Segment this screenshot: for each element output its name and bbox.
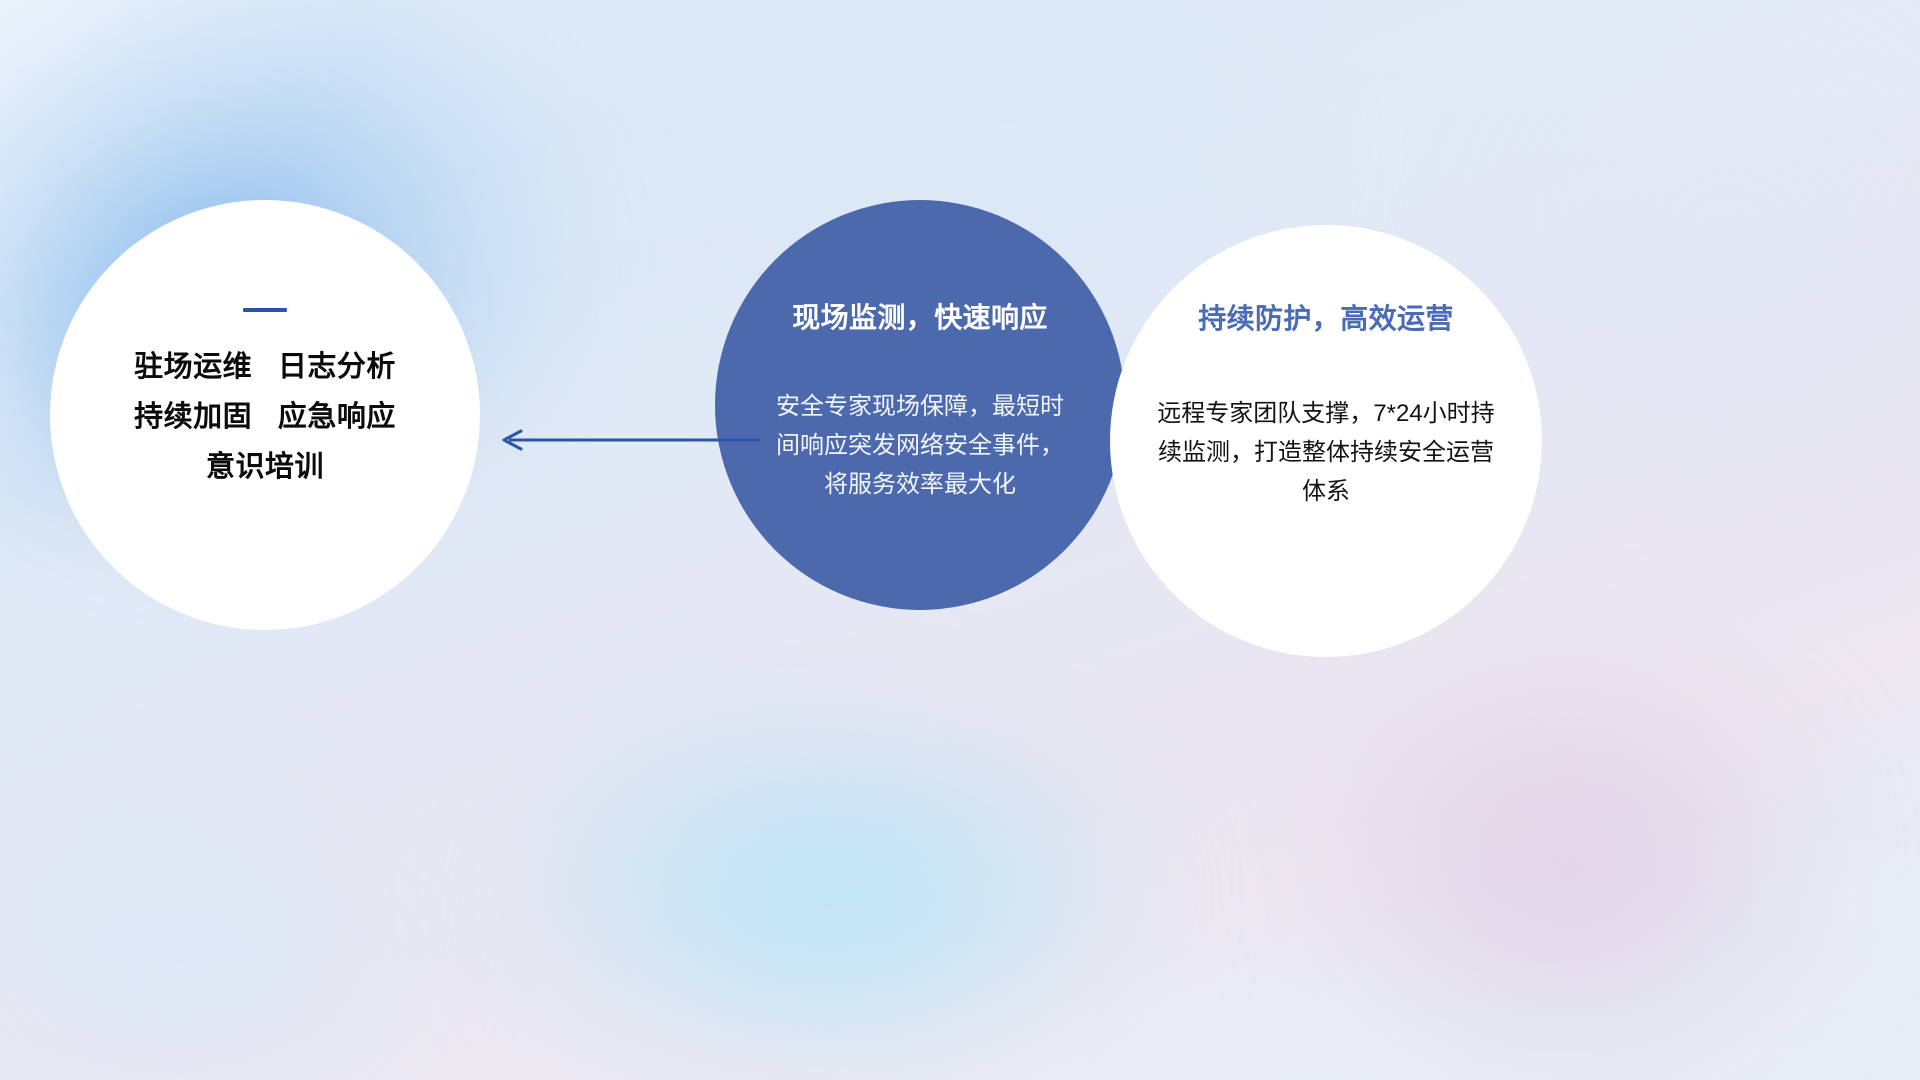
capability-line-1: 驻场运维 日志分析 (134, 350, 396, 384)
right-circle-body: 远程专家团队支撑，7*24小时持续监测，打造整体持续安全运营体系 (1151, 395, 1501, 512)
middle-circle-title: 现场监测，快速响应 (792, 296, 1048, 336)
capability-line-2: 持续加固 应急响应 (134, 400, 396, 434)
left-circle-capability-list: 驻场运维 日志分析 持续加固 应急响应 意识培训 (134, 350, 396, 485)
left-circle-content: 驻场运维 日志分析 持续加固 应急响应 意识培训 (50, 200, 480, 630)
right-circle-content: 持续防护，高效运营 远程专家团队支撑，7*24小时持续监测，打造整体持续安全运营… (1110, 225, 1542, 657)
slide-canvas: 驻场运维 日志分析 持续加固 应急响应 意识培训 现场监测，快速响应 安全专家现… (0, 0, 1920, 1080)
right-circle-title: 持续防护，高效运营 (1198, 297, 1454, 337)
middle-circle-body: 安全专家现场保障，最短时间响应突发网络安全事件，将服务效率最大化 (770, 388, 1070, 505)
capability-line-3: 意识培训 (206, 450, 324, 484)
middle-circle-content: 现场监测，快速响应 安全专家现场保障，最短时间响应突发网络安全事件，将服务效率最… (715, 200, 1125, 610)
left-circle-divider (243, 308, 287, 312)
